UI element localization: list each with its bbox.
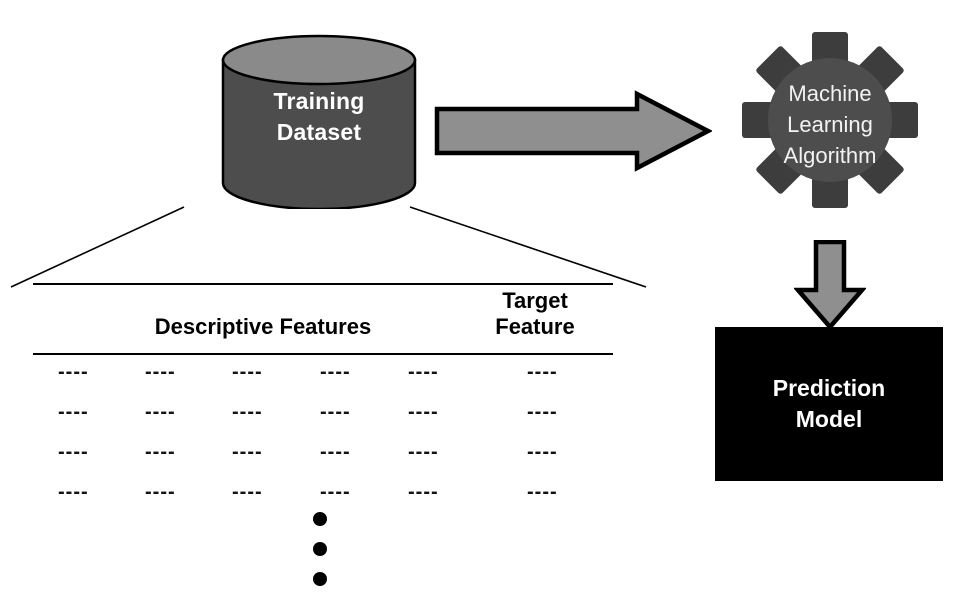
table-cell: ---- [58,441,89,464]
vertical-ellipsis-icon [313,512,329,600]
table-cell: ---- [232,441,263,464]
machine-learning-algorithm-gear-icon [742,32,918,208]
table-header-row: Descriptive Features Target Feature [33,285,613,353]
table-cell: ---- [58,361,89,384]
table-cell: ---- [145,361,176,384]
table-cell: ---- [145,401,176,424]
header-target-line1: Target [465,288,605,314]
table-cell: ---- [58,401,89,424]
table-cell: ---- [320,401,351,424]
diagram-canvas: Training Dataset Machine Learning Algori… [0,0,958,600]
header-target-line2: Feature [465,314,605,340]
table-cell: ---- [408,441,439,464]
table-body: ---- ---- ---- ---- ---- ---- ---- ---- … [33,355,613,521]
header-target-feature: Target Feature [465,288,605,340]
table-cell: ---- [527,361,558,384]
table-cell: ---- [145,441,176,464]
ellipsis-dot [313,512,327,526]
prediction-label-line2: Model [773,404,885,435]
table-cell: ---- [320,441,351,464]
table-cell: ---- [408,401,439,424]
ellipsis-dot [313,542,327,556]
table-row: ---- ---- ---- ---- ---- ---- [33,361,613,401]
table-cell: ---- [58,481,89,504]
table-cell: ---- [527,401,558,424]
table-cell: ---- [232,361,263,384]
table-cell: ---- [320,481,351,504]
ellipsis-dot [313,572,327,586]
prediction-model-label: Prediction Model [773,373,885,435]
table-cell: ---- [408,361,439,384]
table-cell: ---- [320,361,351,384]
table-row: ---- ---- ---- ---- ---- ---- [33,401,613,441]
table-cell: ---- [232,481,263,504]
table-cell: ---- [408,481,439,504]
algorithm-to-prediction-arrow-icon [794,240,866,330]
dataset-table: Descriptive Features Target Feature ----… [33,283,613,521]
table-row: ---- ---- ---- ---- ---- ---- [33,441,613,481]
header-descriptive-features: Descriptive Features [88,314,438,340]
training-dataset-cylinder: Training Dataset [221,34,417,209]
funnel-lines [0,195,660,295]
table-cell: ---- [527,481,558,504]
prediction-label-line1: Prediction [773,373,885,404]
table-cell: ---- [527,441,558,464]
table-cell: ---- [145,481,176,504]
table-cell: ---- [232,401,263,424]
prediction-model-box: Prediction Model [715,327,943,481]
dataset-to-algorithm-arrow-icon [434,90,712,172]
